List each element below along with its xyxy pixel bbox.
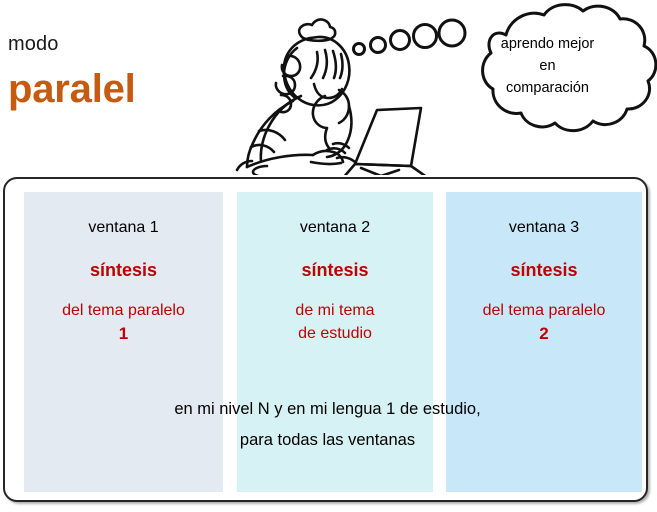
synthesis-desc-line-1: de mi tema bbox=[295, 302, 374, 319]
synthesis-description-3: del tema paralelo 2 bbox=[446, 299, 642, 347]
thought-bubble-text: aprendo mejor en comparación bbox=[465, 33, 630, 99]
header-kicker: modo bbox=[8, 34, 58, 54]
synthesis-description-2: de mi tema de estudio bbox=[237, 299, 433, 345]
synthesis-heading-1: síntesis bbox=[24, 261, 223, 279]
window-column-2[interactable]: ventana 2 síntesis de mi tema de estudio bbox=[237, 192, 433, 492]
window-label-2: ventana 2 bbox=[237, 220, 433, 236]
thought-bubble-line-1: aprendo mejor bbox=[465, 33, 630, 55]
synthesis-description-1: del tema paralelo 1 bbox=[24, 299, 223, 347]
thought-dot bbox=[354, 44, 365, 55]
window-label-1: ventana 1 bbox=[24, 220, 223, 236]
thought-dot bbox=[439, 20, 465, 46]
thought-bubble-line-2: en bbox=[465, 55, 630, 77]
thought-dot bbox=[414, 25, 437, 48]
thought-dot bbox=[391, 31, 410, 50]
synthesis-desc-line-2: de estudio bbox=[298, 325, 372, 342]
window-label-3: ventana 3 bbox=[446, 220, 642, 236]
synthesis-desc-line-1: del tema paralelo bbox=[483, 302, 606, 319]
synthesis-desc-line-2: 2 bbox=[539, 324, 548, 343]
thought-bubble-line-3: comparación bbox=[465, 77, 630, 99]
synthesis-heading-3: síntesis bbox=[446, 261, 642, 279]
window-column-1[interactable]: ventana 1 síntesis del tema paralelo 1 bbox=[24, 192, 223, 492]
synthesis-heading-2: síntesis bbox=[237, 261, 433, 279]
synthesis-desc-line-1: del tema paralelo bbox=[62, 302, 185, 319]
page-title: paralel bbox=[8, 68, 136, 110]
window-column-3[interactable]: ventana 3 síntesis del tema paralelo 2 bbox=[446, 192, 642, 492]
windows-panel: ventana 1 síntesis del tema paralelo 1 v… bbox=[3, 177, 648, 502]
synthesis-desc-line-2: 1 bbox=[119, 324, 128, 343]
thought-dot bbox=[371, 38, 386, 53]
